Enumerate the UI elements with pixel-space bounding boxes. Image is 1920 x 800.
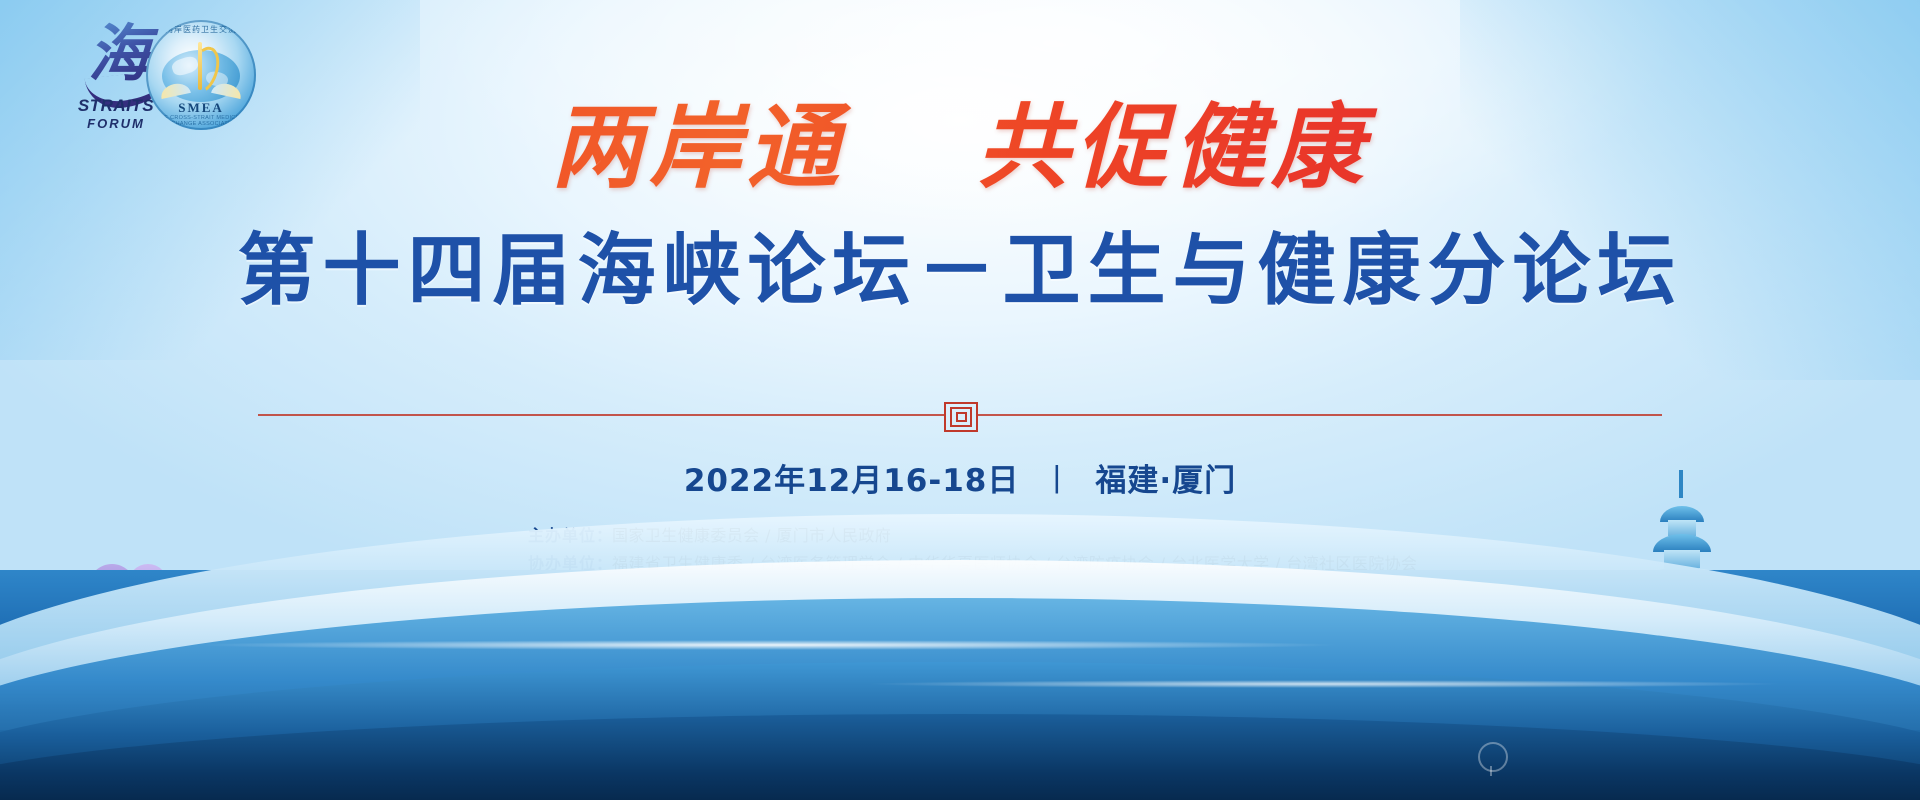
date-location-bar: 2022年12月16-18日丨福建·厦门 (0, 455, 1920, 500)
event-date: 2022年12月16-18日 (684, 463, 1020, 499)
divider-line-left (258, 414, 944, 416)
wave-highlight-1 (192, 640, 1344, 650)
page-title: 第十四届海峡论坛－卫生与健康分论坛 (0, 225, 1920, 317)
ornamental-divider (0, 398, 1920, 432)
slogan-part-1: 两岸通 (551, 93, 845, 201)
date-location-separator: 丨 (1041, 455, 1073, 500)
wave-highlight-2 (864, 680, 1786, 688)
divider-line-right (976, 414, 1662, 416)
slogan-part-2: 共促健康 (977, 93, 1369, 201)
event-location: 福建·厦门 (1095, 463, 1236, 499)
ocean-wave-graphic (0, 500, 1920, 800)
watermark-icon (1478, 742, 1508, 772)
poster-canvas: 海 STRAITS FORUM 海峡两岸医药卫生交流协会 SMEA THE CR… (0, 0, 1920, 800)
slogan-part-1b: 融 (845, 125, 925, 211)
smea-chinese-arc-text: 海峡两岸医药卫生交流协会 (146, 24, 256, 35)
slogan-calligraphy: 两岸通融共促健康 (0, 88, 1920, 213)
chinese-knot-ornament-icon (943, 398, 977, 432)
